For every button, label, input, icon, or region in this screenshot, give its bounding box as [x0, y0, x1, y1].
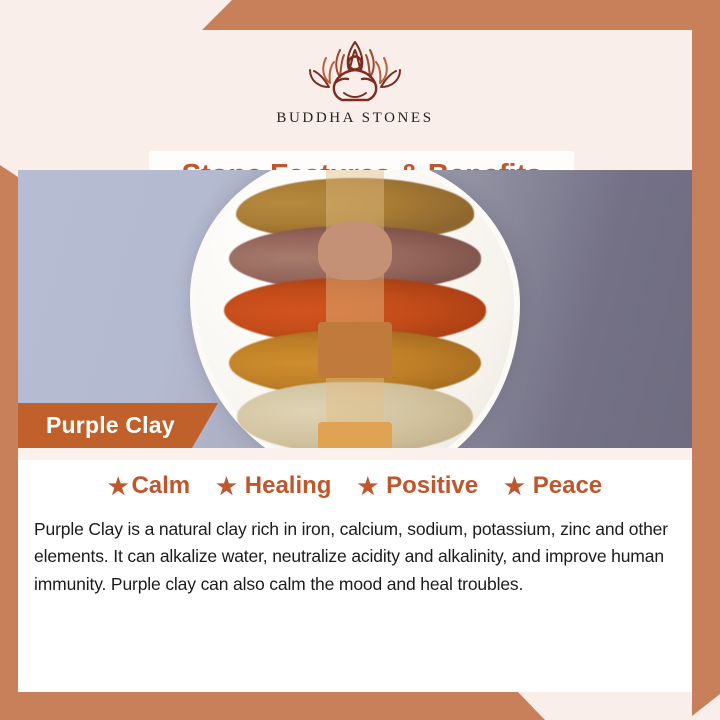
benefit-label: Healing [245, 472, 332, 500]
powder-swatch-bottom [318, 422, 392, 448]
benefit-peace: ★ Peace [504, 472, 602, 500]
star-icon: ★ [108, 475, 129, 498]
product-description: Purple Clay is a natural clay rich in ir… [34, 516, 676, 598]
benefit-label: Positive [386, 472, 478, 500]
lotus-meditation-logo-icon [280, 36, 430, 108]
product-name-tag: Purple Clay [18, 403, 218, 448]
benefit-label: Peace [533, 472, 602, 500]
frame-right-band [692, 0, 720, 720]
powder-center-strip [326, 170, 384, 448]
product-infographic: BUDDHA STONES Stone Features & Benefits … [0, 0, 720, 720]
brand-lockup: BUDDHA STONES [18, 36, 692, 127]
powder-swatch-top [318, 222, 392, 280]
benefits-row: ★ Calm ★ Healing ★ Positive ★ Peace [18, 460, 692, 510]
powder-swatch-middle [318, 322, 392, 378]
benefits-top-strip [18, 448, 692, 460]
content-section: ★ Calm ★ Healing ★ Positive ★ Peace Purp… [18, 448, 692, 692]
benefit-label: Calm [131, 472, 190, 500]
frame-bottom-band [0, 692, 720, 720]
product-name-label: Purple Clay [46, 412, 175, 439]
star-icon: ★ [357, 475, 378, 498]
header-section: BUDDHA STONES Stone Features & Benefits [18, 30, 692, 170]
brand-name: BUDDHA STONES [276, 110, 433, 127]
benefit-healing: ★ Healing [216, 472, 331, 500]
frame-left-band [0, 165, 18, 705]
frame-top-band [0, 0, 720, 30]
star-icon: ★ [216, 475, 237, 498]
benefit-calm: ★ Calm [108, 472, 190, 500]
star-icon: ★ [504, 475, 525, 498]
benefit-positive: ★ Positive [357, 472, 478, 500]
